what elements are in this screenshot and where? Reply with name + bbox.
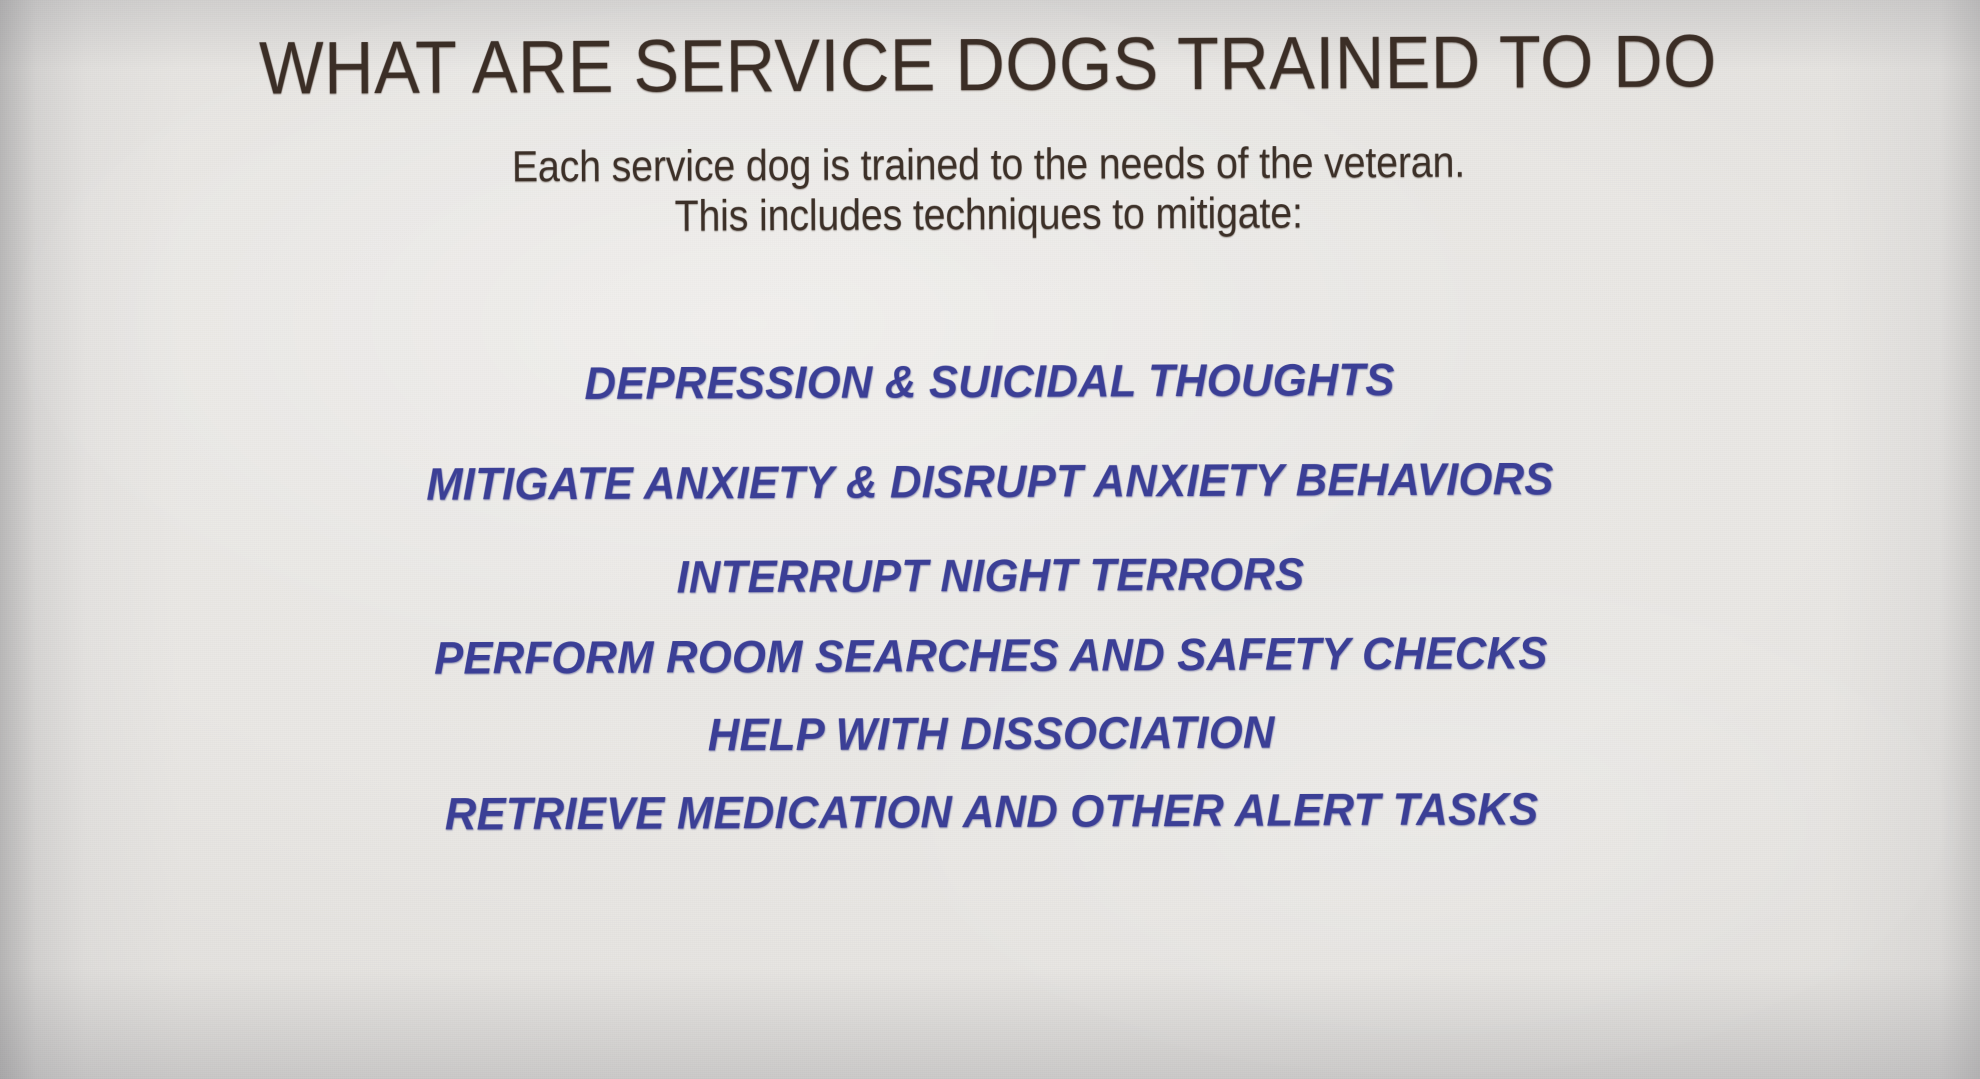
- poster-content: WHAT ARE SERVICE DOGS TRAINED TO DO Each…: [0, 0, 1980, 1079]
- poster-subtitle: Each service dog is trained to the needs…: [102, 136, 1875, 244]
- task-item-depression: DEPRESSION & SUICIDAL THOUGHTS: [29, 351, 1950, 412]
- task-item-night-terrors: INTERRUPT NIGHT TERRORS: [30, 545, 1951, 606]
- task-item-dissociation: HELP WITH DISSOCIATION: [31, 703, 1952, 764]
- task-item-anxiety: MITIGATE ANXIETY & DISRUPT ANXIETY BEHAV…: [30, 451, 1951, 512]
- task-item-room-searches: PERFORM ROOM SEARCHES AND SAFETY CHECKS: [30, 625, 1951, 686]
- task-list: DEPRESSION & SUICIDAL THOUGHTS MITIGATE …: [0, 351, 1980, 843]
- subtitle-line-1: Each service dog is trained to the needs…: [102, 136, 1874, 194]
- subtitle-line-2: This includes techniques to mitigate:: [103, 185, 1875, 243]
- poster-title: WHAT ARE SERVICE DOGS TRAINED TO DO: [72, 24, 1904, 107]
- task-item-retrieve-medication: RETRIEVE MEDICATION AND OTHER ALERT TASK…: [31, 781, 1952, 842]
- poster-slide: WHAT ARE SERVICE DOGS TRAINED TO DO Each…: [0, 0, 1980, 1079]
